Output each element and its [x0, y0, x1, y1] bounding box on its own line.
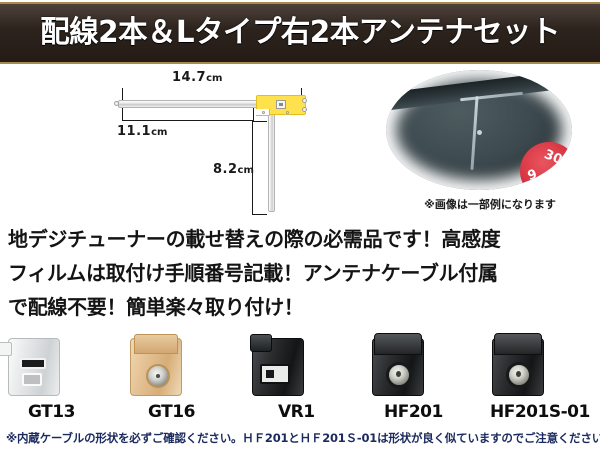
gt13-secondary-port	[22, 373, 42, 386]
antenna-film-horizontal-arm	[118, 100, 270, 108]
connector-label-hf201s-01: HF201S-01	[490, 402, 600, 422]
page-title: 配線2本＆Lタイプ右2本アンテナセット	[40, 18, 560, 48]
dimension-bracket-side	[252, 121, 267, 215]
hf201s-01-latch-clip	[494, 333, 542, 355]
vr1-connector-image	[242, 334, 316, 400]
gt16-connector-image	[120, 334, 194, 400]
antenna-pad-dot-bottom-right	[286, 111, 289, 114]
description-line-1: 地デジチューナーの載せ替えの際の必需品です！高感度	[8, 222, 594, 256]
dimension-unit-middle: cm	[151, 127, 167, 138]
dimension-label-height: 8.2cm	[213, 162, 254, 177]
gt13-signal-port	[20, 358, 46, 369]
dimension-unit-side: cm	[238, 165, 254, 176]
connector-item-vr1: VR1	[238, 332, 358, 424]
dimension-unit-top: cm	[206, 73, 222, 84]
photo-caption: ※画像は一部例になります	[400, 196, 580, 212]
description-line-2: フィルムは取付け手順番号記載！アンテナケーブル付属	[8, 256, 594, 290]
footer-caution-note: ※内蔵ケーブルの形状を必ずご確認ください。ＨＦ201とＨＦ201Ｓ-01は形状が…	[6, 430, 598, 446]
antenna-pad-contact-square	[276, 100, 286, 109]
dimension-value-side: 8.2	[213, 162, 238, 177]
installed-antenna-marker	[477, 130, 482, 135]
dimension-bracket-middle	[122, 106, 254, 121]
hf201-coax-center	[386, 362, 412, 388]
dimension-label-width-inner: 11.1cm	[117, 124, 167, 139]
sticker-digit-left: 9	[526, 167, 539, 184]
hf201-connector-image	[362, 334, 436, 400]
product-banner: 配線2本＆Lタイプ右2本アンテナセット 14.7cm 11.1cm 8.2cm	[0, 0, 600, 450]
antenna-dimension-diagram: 14.7cm 11.1cm 8.2cm	[0, 66, 340, 216]
vr1-signal-port	[260, 364, 290, 384]
hf201-latch-clip	[374, 333, 422, 355]
gt16-coax-center	[146, 364, 170, 388]
connector-type-row: GT13 GT16 VR1 HF201	[0, 332, 600, 424]
antenna-pad-dot-right-lower	[302, 107, 307, 112]
connector-item-hf201: HF201	[358, 332, 478, 424]
dimension-value-middle: 11.1	[117, 124, 151, 139]
windshield-photo-inset: 9 30	[386, 70, 572, 190]
connector-item-gt16: GT16	[116, 332, 236, 424]
gt16-latch-clip	[134, 334, 178, 354]
sticker-digit-right: 30	[542, 147, 564, 168]
antenna-pad-dot-bottom-left	[262, 111, 265, 114]
dimension-value-top: 14.7	[172, 70, 206, 85]
windshield-edge	[386, 70, 572, 112]
antenna-film-vertical-arm	[268, 112, 275, 212]
description-line-3: で配線不要！簡単楽々取り付け！	[8, 290, 594, 324]
product-description: 地デジチューナーの載せ替えの際の必需品です！高感度 フィルムは取付け手順番号記載…	[8, 222, 594, 324]
header-band: 配線2本＆Lタイプ右2本アンテナセット	[0, 2, 600, 64]
connector-item-hf201s-01: HF201S-01	[478, 332, 598, 424]
dimension-label-width-total: 14.7cm	[172, 70, 222, 85]
vr1-latch-tab	[250, 334, 272, 352]
antenna-pad-dot-right-upper	[302, 98, 307, 103]
antenna-film-endpoint-dot	[114, 101, 119, 106]
inspection-sticker: 9 30	[520, 142, 572, 190]
gt13-latch-tab	[0, 342, 12, 356]
connector-item-gt13: GT13	[0, 332, 114, 424]
hf201s-01-connector-image	[482, 334, 556, 400]
hf201s-01-coax-center	[506, 362, 532, 388]
gt13-connector-image	[0, 334, 72, 400]
